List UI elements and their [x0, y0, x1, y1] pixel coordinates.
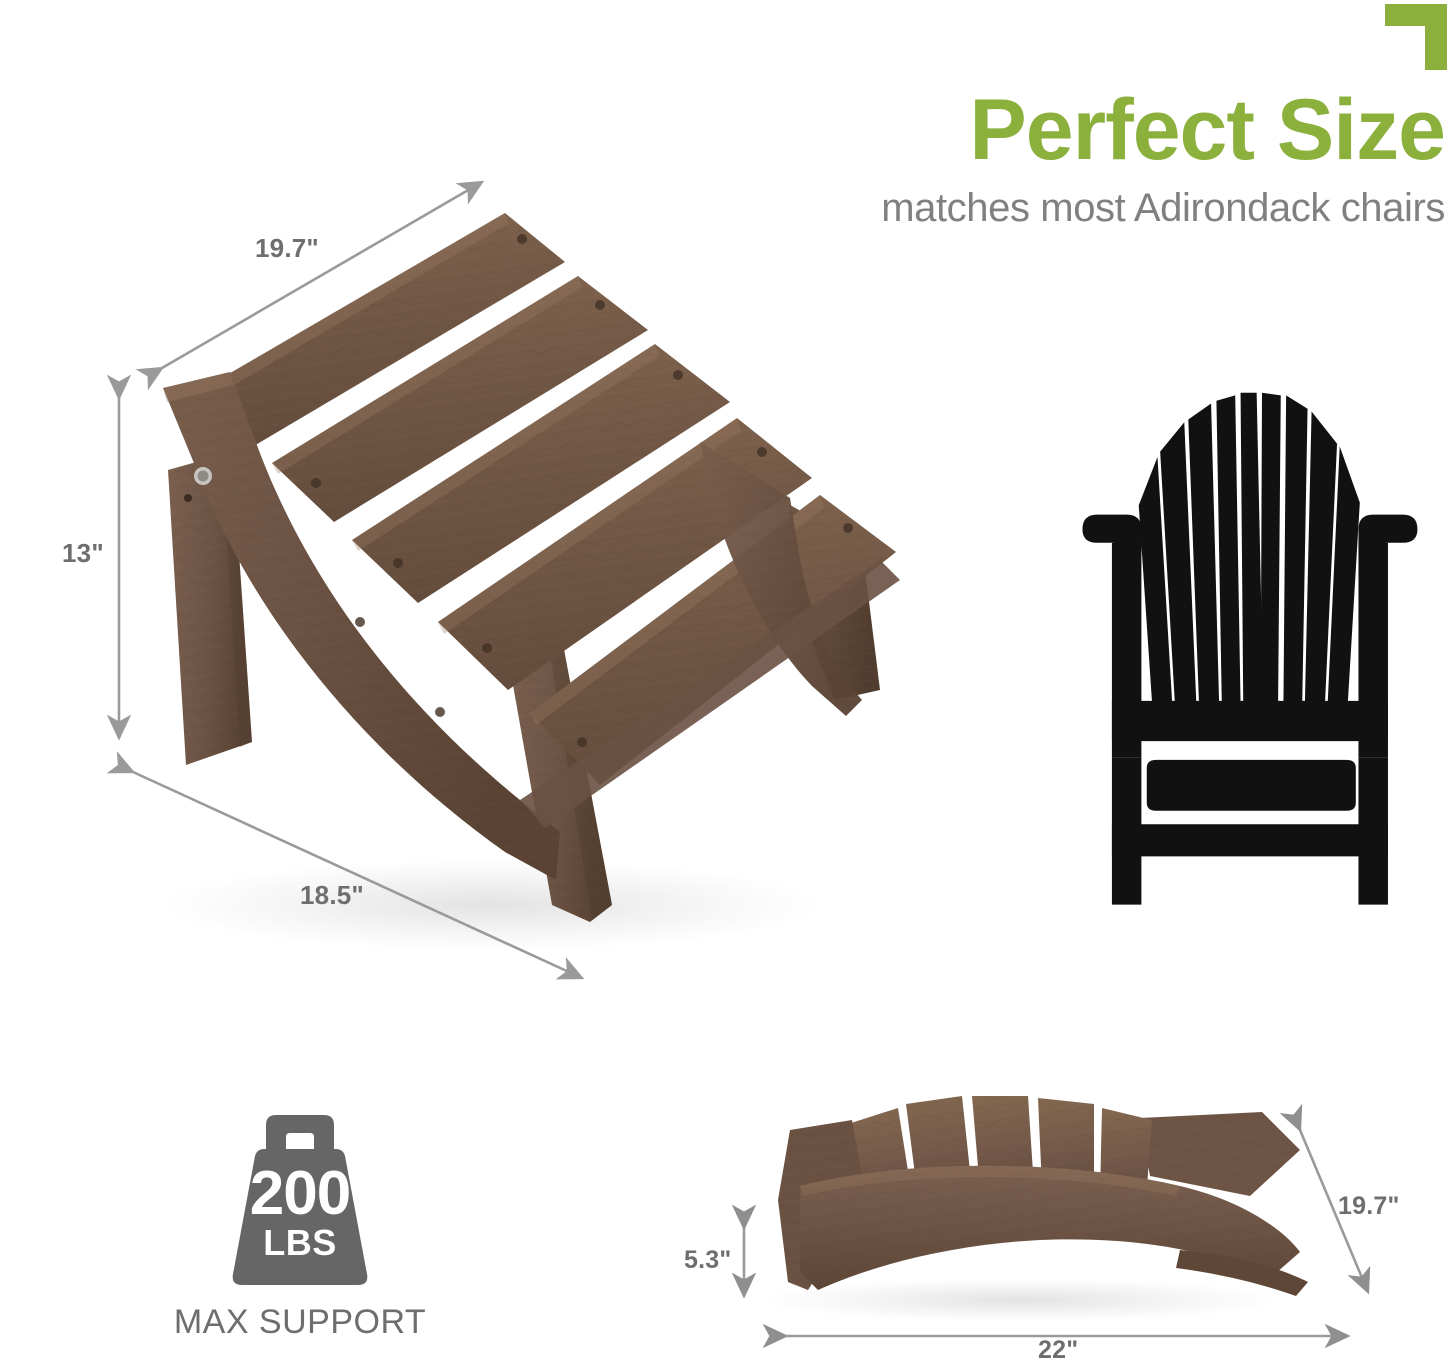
- dim-label-depth: 18.5": [300, 880, 364, 911]
- ottoman-folded: [778, 1096, 1308, 1296]
- weight-value: 200: [200, 1163, 400, 1225]
- weight-icon: 200 LBS: [200, 1115, 400, 1295]
- ottoman-slat-3: [352, 344, 730, 603]
- header-block: Perfect Size matches most Adirondack cha…: [690, 88, 1445, 231]
- infographic-canvas: Perfect Size matches most Adirondack cha…: [0, 0, 1451, 1369]
- folded-slats: [848, 1096, 1152, 1208]
- ottoman-slat-4: [438, 418, 812, 690]
- dim-label-height: 13": [62, 538, 104, 569]
- weight-caption: MAX SUPPORT: [150, 1303, 450, 1342]
- ottoman-slat-1: [196, 213, 565, 447]
- dim-label-folded-depth: 19.7": [1338, 1192, 1400, 1221]
- ottoman-seat-slats: [196, 213, 896, 785]
- dim-arrow-depth: [133, 772, 582, 978]
- dim-arrow-width: [162, 182, 482, 368]
- dim-label-width: 19.7": [255, 233, 319, 264]
- weight-unit: LBS: [200, 1225, 400, 1261]
- ottoman-slat-2: [272, 276, 648, 522]
- page-title: Perfect Size: [690, 88, 1445, 172]
- ottoman-right-side-rail: [700, 442, 862, 716]
- ottoman-slat-5: [530, 495, 896, 785]
- dim-label-folded-height: 5.3": [684, 1246, 731, 1275]
- dim-label-folded-width: 22": [1038, 1336, 1078, 1365]
- ottoman-left-side-rail: [163, 372, 560, 880]
- ottoman-rear-left-leg: [168, 452, 252, 765]
- weight-capacity-badge: 200 LBS MAX SUPPORT: [150, 1115, 450, 1342]
- ottoman-front-right-leg: [505, 628, 612, 922]
- page-subtitle: matches most Adirondack chairs: [690, 186, 1445, 231]
- ottoman-rear-right-leg: [790, 505, 880, 700]
- corner-bracket-icon: [1355, 0, 1451, 72]
- ottoman-front-cross-rail: [520, 560, 900, 828]
